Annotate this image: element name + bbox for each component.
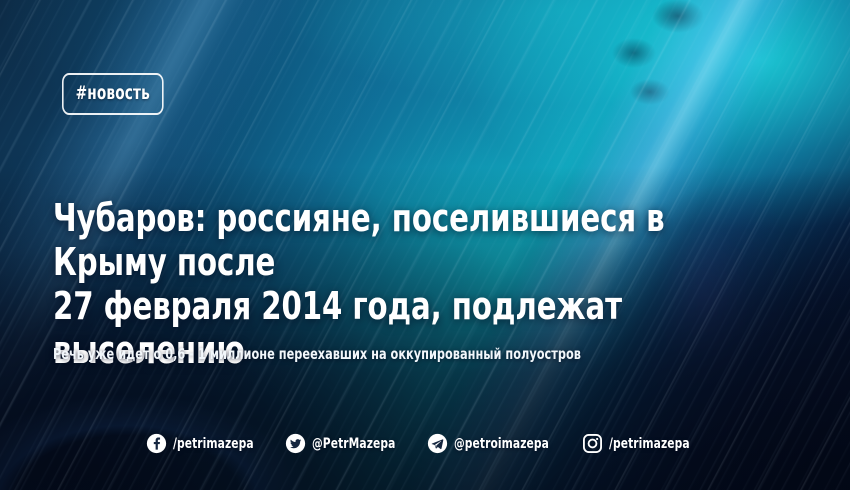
social-links-bar: /petrimazepa @PetrMazepa @petroimazepa: [0, 433, 850, 454]
social-handle-telegram: @petroimazepa: [454, 436, 549, 452]
social-link-facebook[interactable]: /petrimazepa: [146, 433, 268, 454]
social-link-instagram[interactable]: /petrimazepa: [582, 433, 704, 454]
facebook-icon: [146, 433, 167, 454]
telegram-icon: [427, 433, 448, 454]
news-card: #новость Чубаров: россияне, поселившиеся…: [0, 0, 850, 490]
social-handle-facebook: /petrimazepa: [173, 436, 254, 452]
social-link-telegram[interactable]: @petroimazepa: [427, 433, 566, 454]
social-link-twitter[interactable]: @PetrMazepa: [285, 433, 410, 454]
twitter-icon: [285, 433, 306, 454]
card-content: #новость Чубаров: россияне, поселившиеся…: [0, 0, 850, 490]
news-tag-badge[interactable]: #новость: [62, 73, 164, 115]
subtitle: Речь уже идет о 0,6 - 1 миллионе перееха…: [53, 344, 691, 364]
social-handle-twitter: @PetrMazepa: [312, 436, 395, 452]
instagram-icon: [582, 433, 603, 454]
social-handle-instagram: /petrimazepa: [609, 436, 690, 452]
